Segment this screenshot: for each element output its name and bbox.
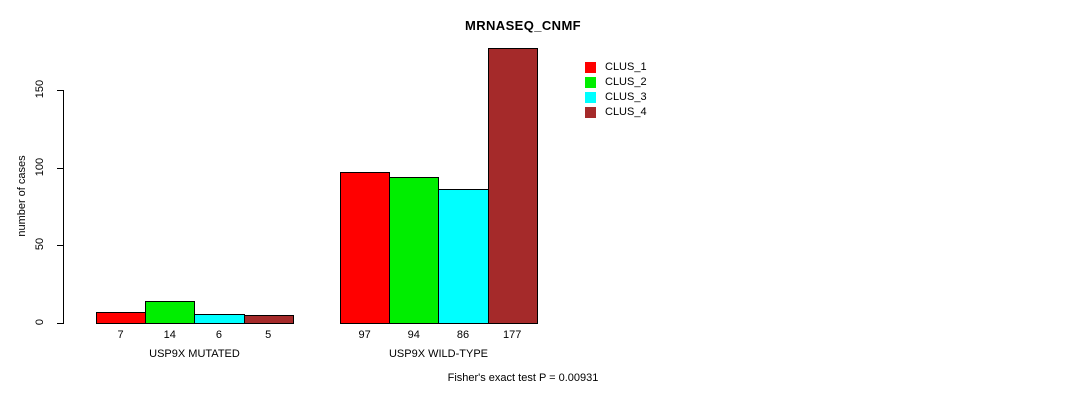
legend-color-swatch [584,61,597,74]
y-axis-tick-label: 0 [34,307,46,337]
bar [244,315,294,324]
bar [438,189,488,324]
legend-color-swatch [584,91,597,104]
legend-item-label: CLUS_3 [605,91,647,104]
legend-color-swatch [584,76,597,89]
bar-value-label: 86 [438,329,487,341]
y-axis-tick-label: 100 [34,152,46,182]
x-axis-group-label: USP9X WILD-TYPE [340,348,537,360]
bar-value-label: 94 [389,329,438,341]
bar [488,48,538,324]
y-axis-line [63,90,64,324]
legend-item-label: CLUS_2 [605,76,647,89]
y-axis-tick-mark [57,90,63,91]
bar [145,301,195,324]
legend-item: CLUS_4 [584,105,647,120]
y-axis-tick-label: 50 [34,229,46,259]
bar [389,177,439,324]
y-axis-tick-label: 150 [34,74,46,104]
legend-item: CLUS_3 [584,90,647,105]
legend: CLUS_1CLUS_2CLUS_3CLUS_4 [584,60,647,120]
y-axis-tick-mark [57,168,63,169]
legend-item: CLUS_1 [584,60,647,75]
legend-color-swatch [584,106,597,119]
y-axis-title: number of cases [16,141,28,251]
legend-item: CLUS_2 [584,75,647,90]
bar [96,312,146,324]
bar-value-label: 6 [194,329,243,341]
statistical-test-annotation: Fisher's exact test P = 0.00931 [0,372,1068,384]
bar [340,172,390,324]
bar-value-label: 5 [244,329,293,341]
bar [194,314,244,324]
legend-item-label: CLUS_1 [605,61,647,74]
x-axis-group-label: USP9X MUTATED [96,348,293,360]
bar-value-label: 7 [96,329,145,341]
bar-value-label: 14 [145,329,194,341]
y-axis-tick-mark [57,245,63,246]
legend-item-label: CLUS_4 [605,106,647,119]
bar-value-label: 97 [340,329,389,341]
y-axis-tick-mark [57,323,63,324]
bar-value-label: 177 [488,329,537,341]
